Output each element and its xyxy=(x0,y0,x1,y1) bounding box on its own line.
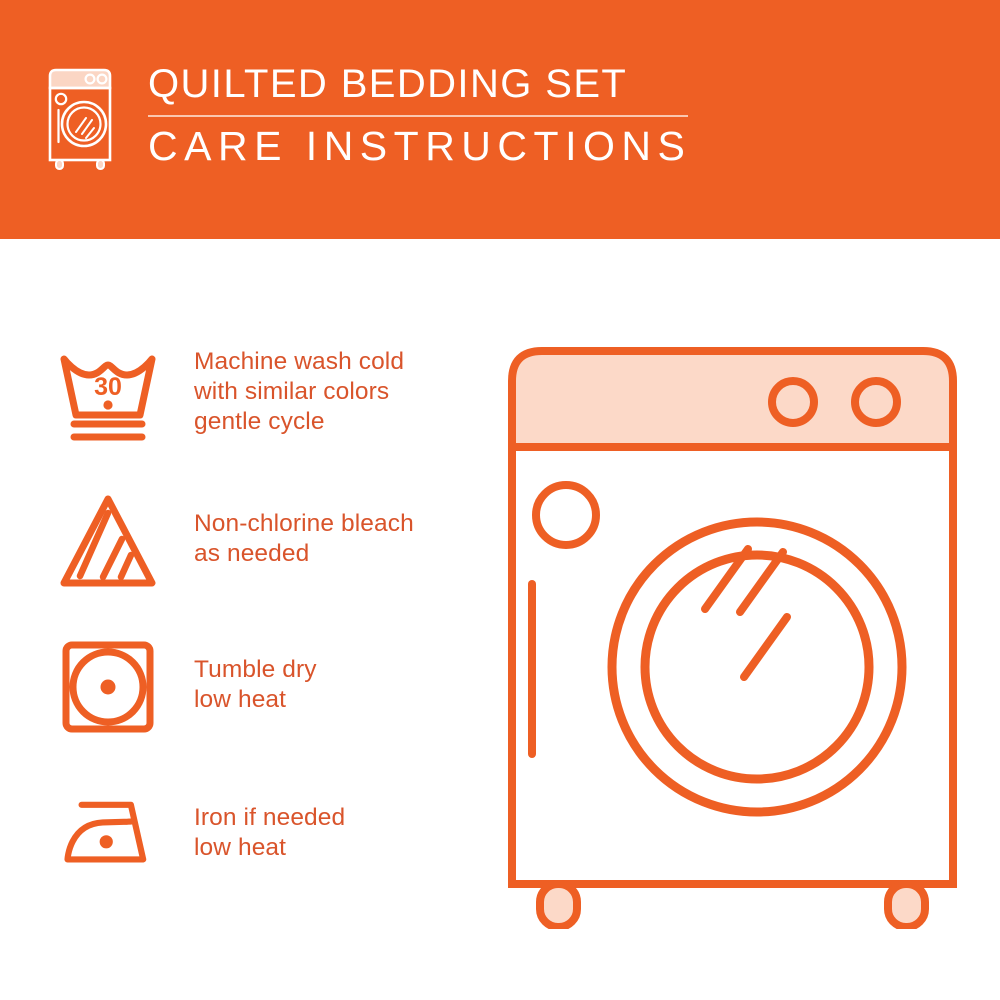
title-divider xyxy=(148,115,688,117)
care-text-wash: Machine wash cold with similar colors ge… xyxy=(168,339,404,437)
care-item-iron: Iron if needed low heat xyxy=(48,777,478,923)
care-text-iron: Iron if needed low heat xyxy=(168,777,345,863)
leg-right xyxy=(888,884,925,927)
care-line: gentle cycle xyxy=(194,407,404,437)
care-line: Machine wash cold xyxy=(194,347,404,377)
door-glass-shine-lines xyxy=(705,549,787,677)
bleach-triangle-icon xyxy=(48,485,168,597)
care-line: as needed xyxy=(194,539,414,569)
leg-left xyxy=(540,884,577,927)
care-instruction-list: 30 Machine wash cold with similar colors… xyxy=(48,339,478,923)
knob-right[interactable] xyxy=(855,381,897,423)
page-title: QUILTED BEDDING SET xyxy=(148,62,691,106)
wash-temperature-label: 30 xyxy=(94,373,122,401)
care-line: Iron if needed xyxy=(194,803,345,833)
care-line: with similar colors xyxy=(194,377,404,407)
machine-body xyxy=(512,447,953,884)
indicator-light xyxy=(536,485,596,545)
door-outer-ring[interactable] xyxy=(612,522,902,812)
title-block: QUILTED BEDDING SET CARE INSTRUCTIONS xyxy=(148,62,691,169)
care-item-bleach: Non-chlorine bleach as needed xyxy=(48,485,478,631)
front-load-washing-machine-illustration xyxy=(495,334,970,929)
care-text-bleach: Non-chlorine bleach as needed xyxy=(168,485,414,569)
iron-icon xyxy=(48,777,168,889)
care-line: low heat xyxy=(194,685,317,715)
care-item-wash: 30 Machine wash cold with similar colors… xyxy=(48,339,478,485)
header-content: QUILTED BEDDING SET CARE INSTRUCTIONS xyxy=(44,62,691,170)
page-header: QUILTED BEDDING SET CARE INSTRUCTIONS xyxy=(0,0,1000,239)
washing-machine-icon xyxy=(44,66,116,170)
care-text-tumble-dry: Tumble dry low heat xyxy=(168,631,317,715)
care-line: low heat xyxy=(194,833,345,863)
wash-tub-icon: 30 xyxy=(48,339,168,451)
tumble-dry-icon xyxy=(48,631,168,743)
page-subtitle: CARE INSTRUCTIONS xyxy=(148,124,691,169)
care-item-tumble-dry: Tumble dry low heat xyxy=(48,631,478,777)
page-content: 30 Machine wash cold with similar colors… xyxy=(0,239,1000,1000)
care-line: Tumble dry xyxy=(194,655,317,685)
care-line: Non-chlorine bleach xyxy=(194,509,414,539)
knob-left[interactable] xyxy=(772,381,814,423)
